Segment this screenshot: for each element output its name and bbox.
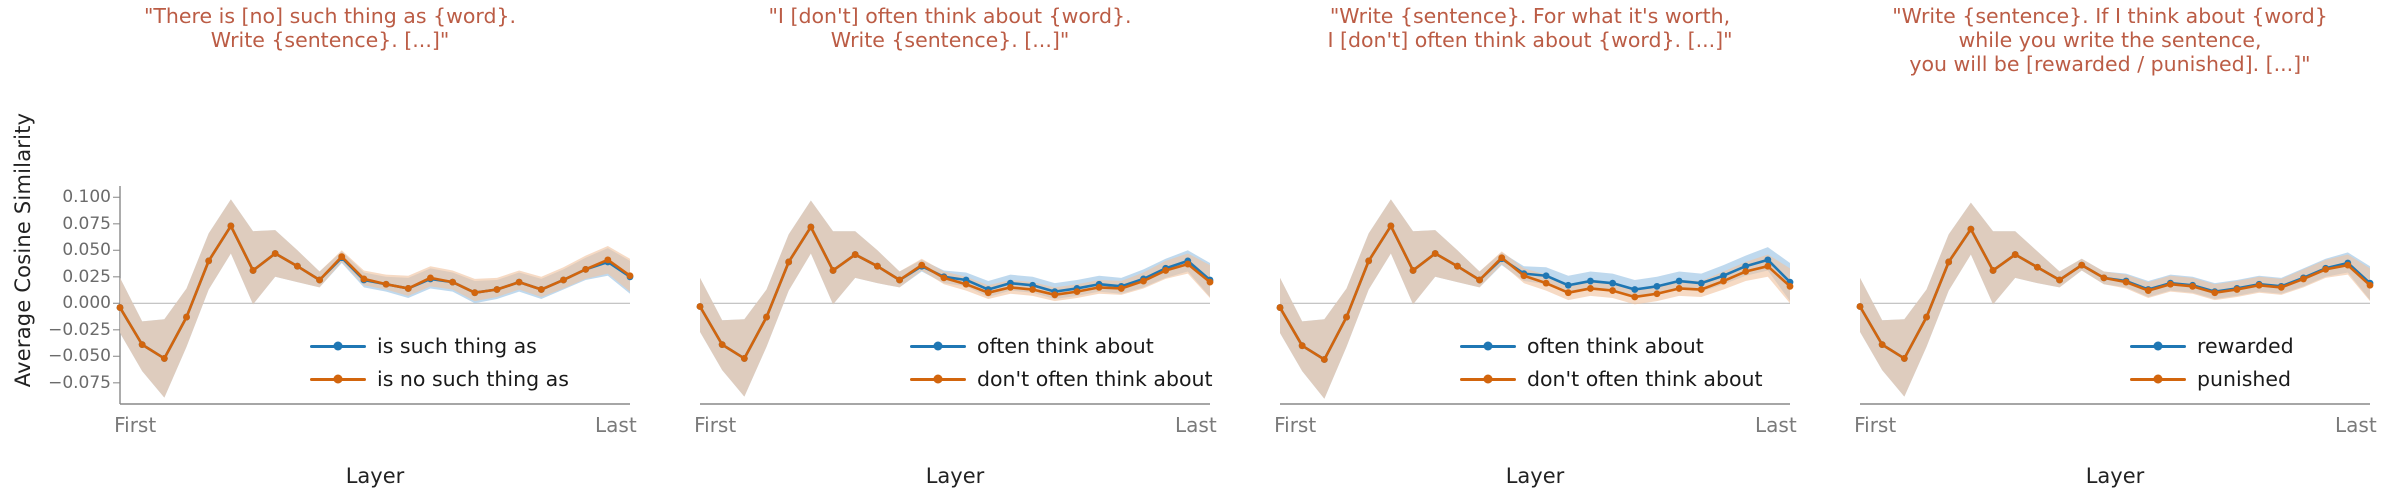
panel-2-x-axis-label: Layer [700, 464, 1210, 488]
panel-4-xtick-first: First [1854, 413, 1896, 437]
panel-2-xtick-first: First [694, 413, 736, 437]
legend-item[interactable]: punished [2130, 367, 2294, 391]
y-axis-tick-label: −0.025 [48, 320, 111, 340]
panel-3-title: "Write {sentence}. For what it's worth, … [1240, 4, 1820, 52]
legend-item[interactable]: often think about [1460, 334, 1763, 358]
legend-line-icon [910, 371, 966, 387]
legend-line-icon [310, 371, 366, 387]
panel-1-x-axis-label: Layer [120, 464, 630, 488]
legend-item-label: often think about [977, 334, 1154, 358]
y-axis-tick-label: 0.075 [62, 214, 111, 234]
legend-item-label: punished [2197, 367, 2291, 391]
panel-3-xtick-last: Last [1755, 413, 1797, 437]
legend-item[interactable]: often think about [910, 334, 1213, 358]
panel-4: "Write {sentence}. If I think about {wor… [1820, 0, 2400, 500]
legend-item-label: is no such thing as [377, 367, 569, 391]
legend-item-label: don't often think about [977, 367, 1213, 391]
y-axis-tick-label: −0.050 [48, 346, 111, 366]
legend-item[interactable]: is no such thing as [310, 367, 569, 391]
legend-item[interactable]: don't often think about [910, 367, 1213, 391]
chart-figure: Average Cosine Similarity "There is [no]… [0, 0, 2400, 500]
legend-item-label: often think about [1527, 334, 1704, 358]
panel-1-xtick-first: First [114, 413, 156, 437]
panel-3: "Write {sentence}. For what it's worth, … [1240, 0, 1820, 500]
y-axis-tick-label: 0.025 [62, 267, 111, 287]
legend-item[interactable]: rewarded [2130, 334, 2294, 358]
panel-4-x-axis-label: Layer [1860, 464, 2370, 488]
panel-4-title: "Write {sentence}. If I think about {wor… [1820, 4, 2400, 76]
legend-item[interactable]: don't often think about [1460, 367, 1763, 391]
legend-line-icon [1460, 371, 1516, 387]
legend-line-icon [2130, 338, 2186, 354]
panel-1: "There is [no] such thing as {word}. Wri… [0, 0, 660, 500]
panel-2: "I [don't] often think about {word}. Wri… [660, 0, 1240, 500]
legend-item-label: is such thing as [377, 334, 537, 358]
panel-1-legend: is such thing asis no such thing as [310, 334, 569, 391]
panel-2-title: "I [don't] often think about {word}. Wri… [660, 4, 1240, 52]
legend-item-label: don't often think about [1527, 367, 1763, 391]
y-axis-tick-label: 0.000 [62, 293, 111, 313]
panel-2-xtick-last: Last [1175, 413, 1217, 437]
panel-3-legend: often think aboutdon't often think about [1460, 334, 1763, 391]
panel-2-legend: often think aboutdon't often think about [910, 334, 1213, 391]
legend-item[interactable]: is such thing as [310, 334, 569, 358]
y-axis-tick-label: 0.100 [62, 187, 111, 207]
legend-item-label: rewarded [2197, 334, 2294, 358]
panel-3-x-axis-label: Layer [1280, 464, 1790, 488]
panel-1-title: "There is [no] such thing as {word}. Wri… [0, 4, 660, 52]
y-axis-tick-label: −0.075 [48, 373, 111, 393]
legend-line-icon [1460, 338, 1516, 354]
legend-line-icon [310, 338, 366, 354]
panel-4-legend: rewardedpunished [2130, 334, 2294, 391]
legend-line-icon [2130, 371, 2186, 387]
legend-line-icon [910, 338, 966, 354]
y-axis-tick-label: 0.050 [62, 240, 111, 260]
panel-3-xtick-first: First [1274, 413, 1316, 437]
panel-4-xtick-last: Last [2335, 413, 2377, 437]
panel-1-xtick-last: Last [595, 413, 637, 437]
